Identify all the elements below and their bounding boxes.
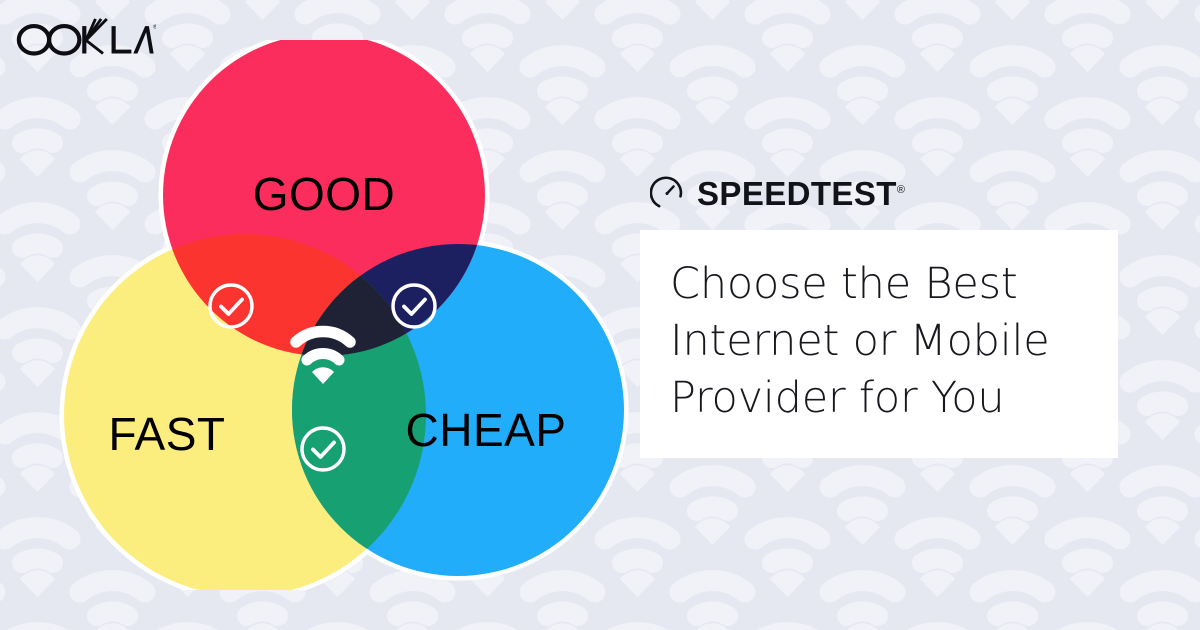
ookla-registered-mark: ® (153, 23, 156, 30)
speedtest-wordmark-text: SPEEDTEST (697, 175, 897, 212)
venn-label-good: GOOD (253, 168, 396, 220)
speedtest-wordmark: SPEEDTEST® (697, 177, 905, 210)
headline-line-2: Internet or Mobile (670, 316, 1050, 366)
speedtest-registered-mark: ® (897, 184, 905, 196)
venn-diagram: GOOD FAST CHEAP (40, 40, 640, 590)
venn-label-fast: FAST (108, 408, 225, 460)
speedtest-logo-lockup[interactable]: SPEEDTEST® (640, 170, 1140, 216)
headline-card: Choose the Best Internet or Mobile Provi… (640, 230, 1118, 458)
headline-line-1: Choose the Best (670, 259, 1018, 309)
venn-label-cheap: CHEAP (406, 404, 567, 456)
page-title: Choose the Best Internet or Mobile Provi… (670, 256, 1088, 428)
speedometer-gauge-icon (650, 176, 684, 210)
promo-graphic: ® (0, 0, 1200, 630)
headline-line-3: Provider for You (670, 373, 1004, 423)
right-content-column: SPEEDTEST® Choose the Best Internet or M… (640, 170, 1140, 458)
ookla-logo[interactable]: ® (16, 16, 156, 56)
